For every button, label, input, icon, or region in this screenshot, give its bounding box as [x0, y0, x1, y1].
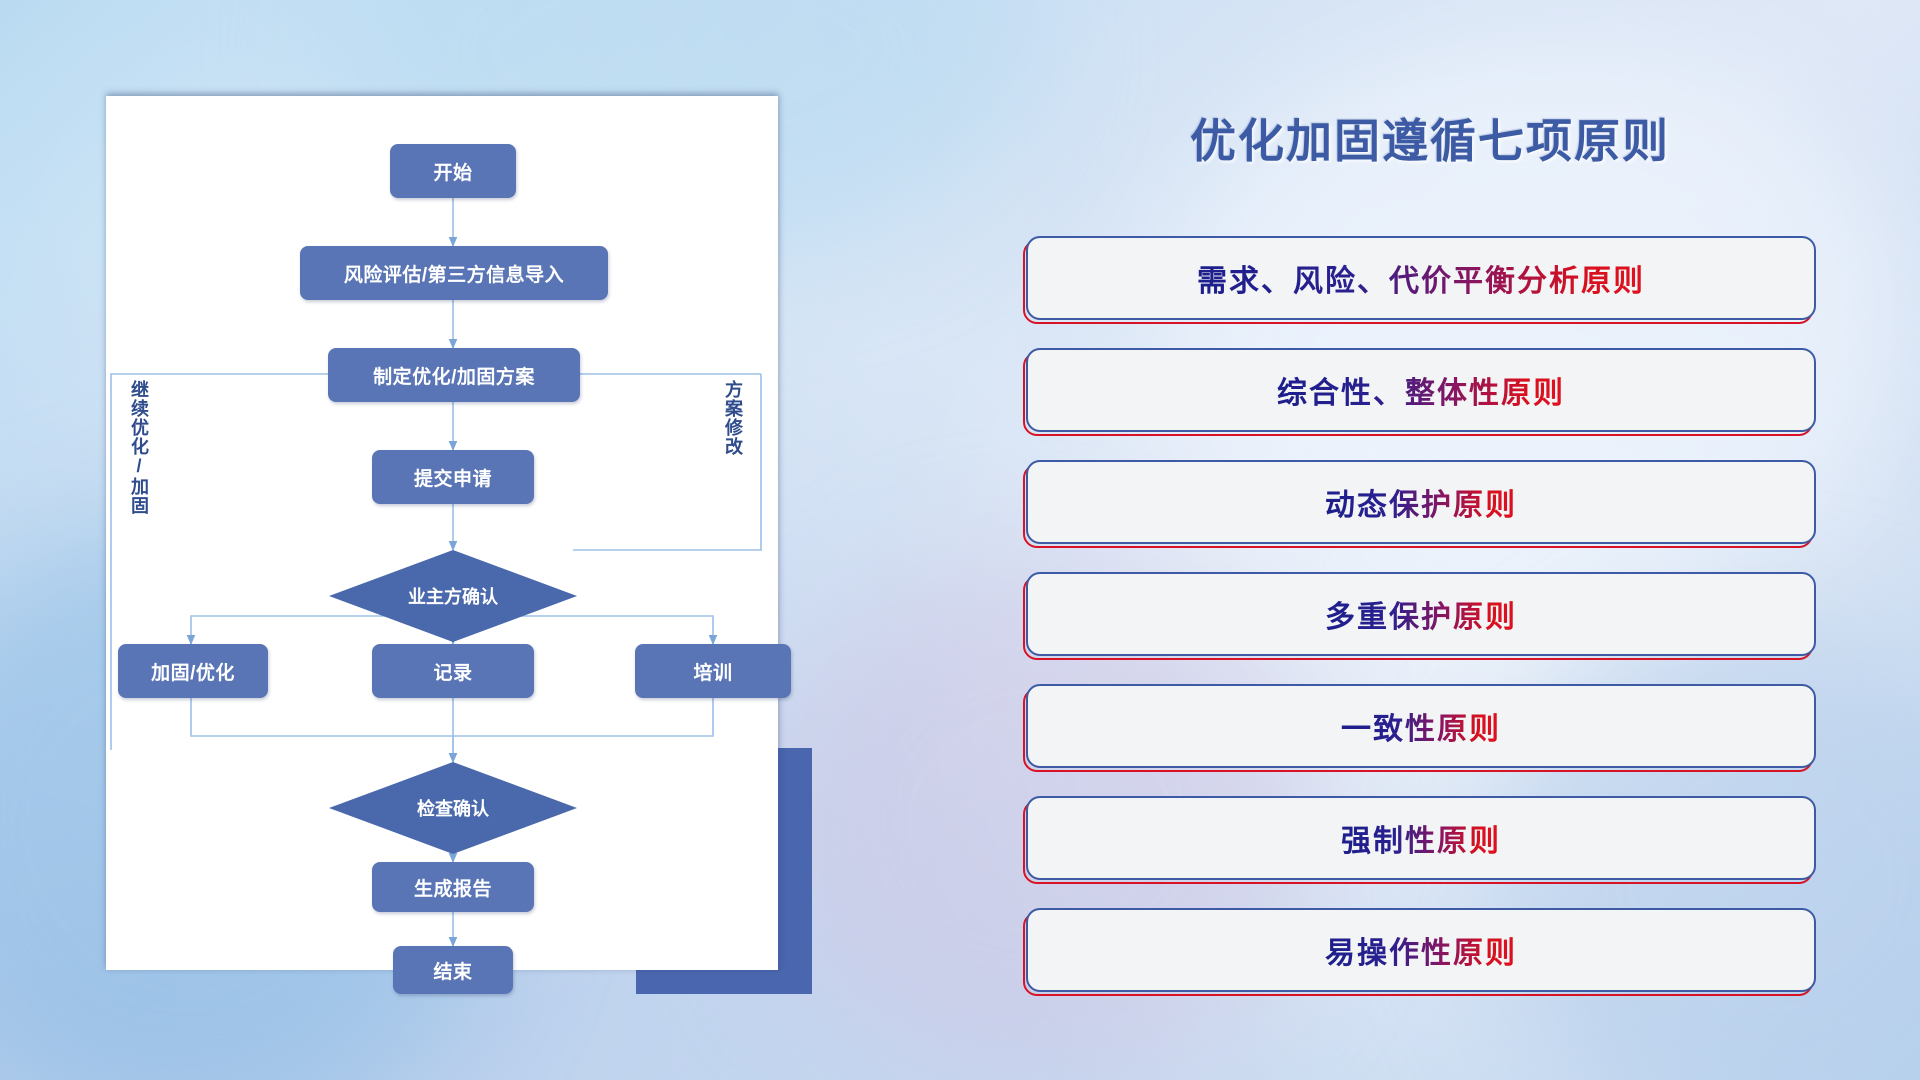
principle-label: 易操作性原则 — [1325, 928, 1517, 972]
principle-item-2[interactable]: 综合性、整体性原则 — [1026, 348, 1816, 432]
flowchart-card: 开始 风险评估/第三方信息导入 制定优化/加固方案 提交申请 业主方确认 加固/… — [106, 96, 778, 970]
flow-edge-label-continue-optimize: 继续优化/加固 — [130, 380, 148, 515]
flow-node-label: 风险评估/第三方信息导入 — [344, 260, 564, 287]
principle-label: 需求、风险、代价平衡分析原则 — [1197, 256, 1645, 300]
flow-node-start[interactable]: 开始 — [390, 144, 516, 198]
flow-node-label: 生成报告 — [414, 874, 492, 901]
flow-node-end[interactable]: 结束 — [393, 946, 513, 994]
flow-decision-owner-confirm[interactable]: 业主方确认 — [329, 550, 577, 642]
flow-decision-label: 业主方确认 — [408, 583, 498, 609]
flow-node-training[interactable]: 培训 — [635, 644, 791, 698]
principle-item-4[interactable]: 多重保护原则 — [1026, 572, 1816, 656]
flow-edge-label-plan-revision: 方案修改 — [724, 380, 742, 456]
flow-node-label: 结束 — [433, 957, 472, 984]
principle-label: 一致性原则 — [1341, 704, 1501, 748]
principle-label: 综合性、整体性原则 — [1277, 368, 1565, 412]
principles-panel: 优化加固遵循七项原则 需求、风险、代价平衡分析原则 综合性、整体性原则 动态保护… — [1020, 0, 1920, 1080]
principle-item-1[interactable]: 需求、风险、代价平衡分析原则 — [1026, 236, 1816, 320]
principle-label: 多重保护原则 — [1325, 592, 1517, 636]
flow-node-label: 加固/优化 — [151, 658, 235, 685]
flow-decision-check-confirm[interactable]: 检查确认 — [329, 762, 577, 854]
flow-node-risk-assessment[interactable]: 风险评估/第三方信息导入 — [300, 246, 608, 300]
principle-label: 动态保护原则 — [1325, 480, 1517, 524]
principle-item-7[interactable]: 易操作性原则 — [1026, 908, 1816, 992]
principle-item-3[interactable]: 动态保护原则 — [1026, 460, 1816, 544]
principle-label: 强制性原则 — [1341, 816, 1501, 860]
flow-node-record[interactable]: 记录 — [372, 644, 534, 698]
flow-node-submit-application[interactable]: 提交申请 — [372, 450, 534, 504]
flow-node-label: 制定优化/加固方案 — [373, 362, 535, 389]
flow-node-generate-report[interactable]: 生成报告 — [372, 862, 534, 912]
flow-node-label: 开始 — [433, 158, 472, 185]
slide-canvas: 开始 风险评估/第三方信息导入 制定优化/加固方案 提交申请 业主方确认 加固/… — [0, 0, 1920, 1080]
flow-node-label: 提交申请 — [414, 464, 492, 491]
principle-item-5[interactable]: 一致性原则 — [1026, 684, 1816, 768]
flow-node-plan[interactable]: 制定优化/加固方案 — [328, 348, 580, 402]
flow-node-label: 记录 — [433, 658, 472, 685]
flow-node-reinforce-optimize[interactable]: 加固/优化 — [118, 644, 268, 698]
flow-node-label: 培训 — [693, 658, 732, 685]
page-title: 优化加固遵循七项原则 — [1020, 105, 1840, 171]
principle-item-6[interactable]: 强制性原则 — [1026, 796, 1816, 880]
flow-decision-label: 检查确认 — [417, 795, 489, 821]
